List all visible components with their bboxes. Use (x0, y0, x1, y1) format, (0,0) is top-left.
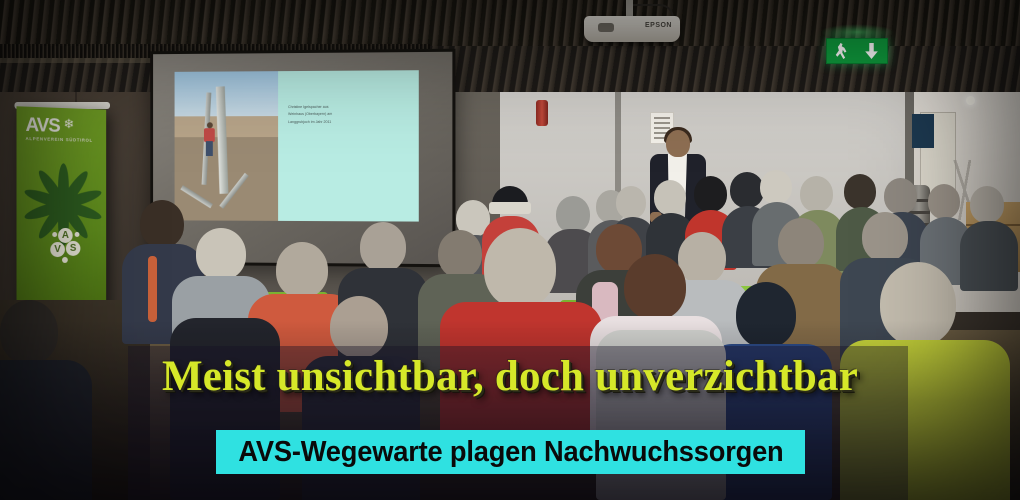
running-man-icon (835, 43, 848, 59)
avs-letter-s: S (66, 241, 81, 256)
avs-monogram: A V S (50, 230, 81, 262)
wall-spotlight (966, 96, 975, 105)
headline: Meist unsichtbar, doch unverzichtbar (0, 352, 1020, 401)
slide-photograph (175, 71, 279, 221)
subtitle-bar: AVS-Wegewarte plagen Nachwuchssorgen (216, 430, 805, 474)
fire-extinguisher (536, 100, 548, 126)
projector-brand-label: EPSON (645, 22, 672, 29)
wall-display (912, 114, 934, 148)
edelweiss-flower-icon: ❄ (64, 116, 75, 132)
slide-caption: Christine Igelspacher aus Weinhaus (Ober… (278, 70, 419, 221)
slide-sky (175, 71, 279, 116)
slide-person (204, 122, 215, 156)
projector-icon: EPSON (584, 16, 680, 42)
slide-caption-line: Christine Igelspacher aus (288, 105, 411, 111)
slide-caption-line: Langgrubjoch im Jahr 2011 (288, 119, 411, 125)
avs-logo-subtitle: ALPENVEREIN SÜDTIROL (26, 136, 98, 143)
slide-person-legs (206, 141, 213, 156)
avs-letter-v: V (50, 242, 65, 257)
avs-dot (52, 232, 57, 237)
projection-screen: Christine Igelspacher aus Weinhaus (Ober… (150, 49, 455, 268)
slide-person-torso (204, 128, 215, 142)
backpack-strap (148, 256, 157, 322)
presenter-head (666, 130, 690, 157)
projector-lens (598, 23, 614, 32)
avs-logo: AVS❄ ALPENVEREIN SÜDTIROL (26, 115, 98, 143)
photo-canvas: EPSON (0, 0, 1020, 500)
subtitle-text: AVS-Wegewarte plagen Nachwuchssorgen (238, 436, 783, 469)
arrow-down-icon (864, 43, 879, 59)
edelweiss-flower-icon: A V S (29, 159, 97, 260)
exit-sign (826, 38, 888, 64)
avs-logo-text: AVS (26, 115, 60, 138)
slide-caption-line: Weinhaus (Oberbayern) am (288, 112, 411, 118)
presentation-slide: Christine Igelspacher aus Weinhaus (Ober… (175, 70, 419, 221)
avs-dot (75, 232, 80, 237)
avs-dot (62, 257, 68, 263)
